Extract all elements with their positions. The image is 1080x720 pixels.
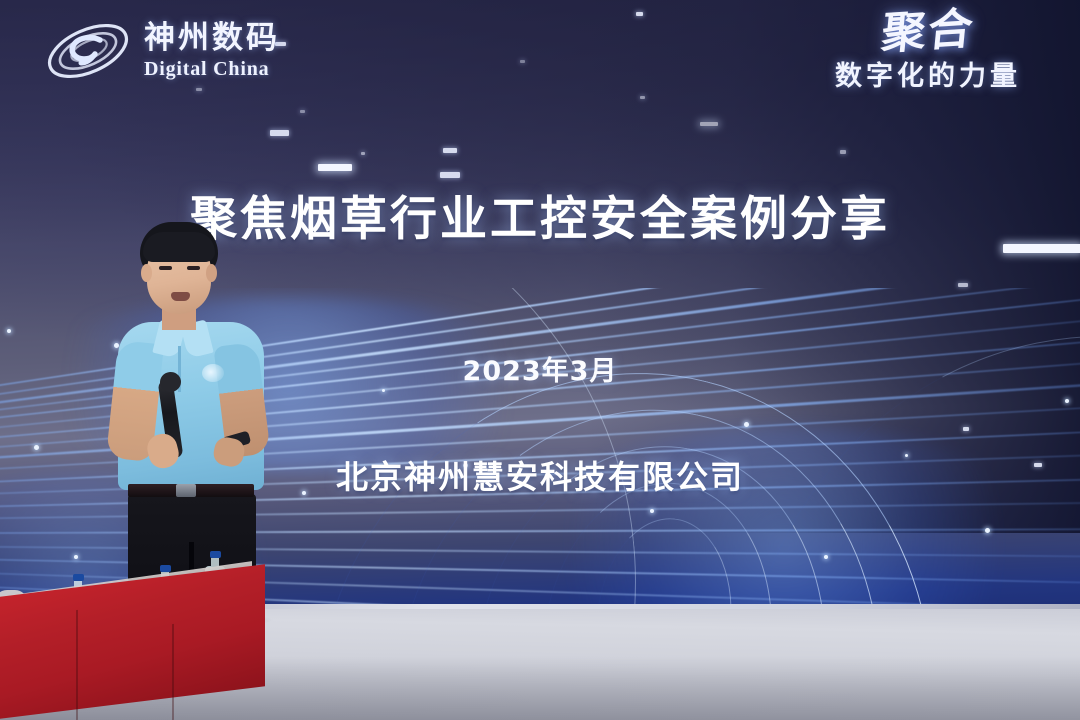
speaker-eye-left: [159, 266, 172, 270]
speaker-ear-right: [206, 264, 217, 282]
bottle-cap: [160, 565, 171, 572]
event-theme-logo: 聚合 数字化的力量: [798, 12, 1058, 93]
speaker-mouth: [171, 292, 190, 301]
conference-stage-photo: 神州数码 Digital China 聚合 数字化的力量 聚焦烟草行业工控安全案…: [0, 0, 1080, 720]
shirt-logo-icon: [202, 364, 224, 382]
bottle-cap: [73, 574, 84, 581]
bottle-neck: [211, 558, 219, 566]
logo-chinese-text: 神州数码: [144, 23, 280, 54]
speaker-figure: [96, 222, 286, 622]
bottle-cap: [210, 551, 221, 558]
led-seam-highlight: [318, 164, 352, 171]
belt-buckle: [176, 484, 196, 497]
galaxy-swirl-icon: [42, 14, 134, 88]
theme-subtitle: 数字化的力量: [798, 54, 1058, 93]
theme-brush-text: 聚合: [880, 9, 977, 55]
digital-china-logo: 神州数码 Digital China: [42, 14, 280, 88]
speaker-eye-right: [187, 266, 200, 270]
speaker-hair-fringe: [143, 232, 215, 262]
tablecloth-fold: [172, 624, 174, 720]
tablecloth-fold: [76, 610, 78, 720]
speaker-ear-left: [141, 264, 152, 282]
red-tablecloth: [0, 564, 265, 720]
foreground-head-table: [0, 585, 265, 720]
logo-english-text: Digital China: [144, 59, 280, 79]
led-seam-highlight: [700, 122, 718, 126]
